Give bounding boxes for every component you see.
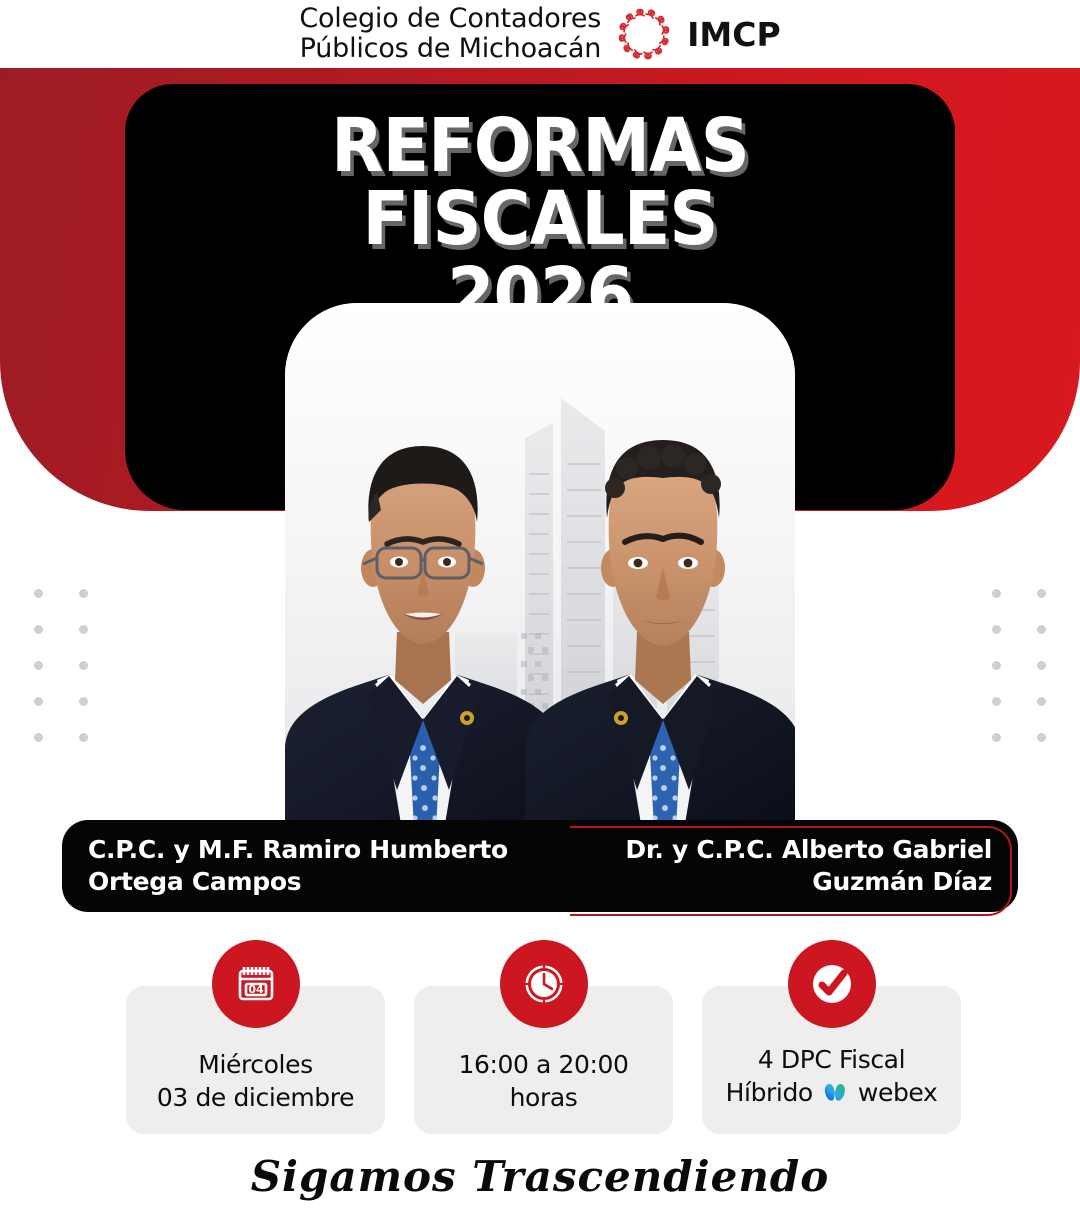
info-card-date-text: Miércoles 03 de diciembre — [157, 1049, 354, 1114]
info-card-date: 04 Miércoles 03 de diciembre — [126, 986, 385, 1134]
decor-dots-left — [34, 589, 94, 779]
imcp-sunburst-icon — [613, 3, 675, 65]
hero-title: REFORMAS FISCALES 2026 — [125, 110, 955, 332]
brand-header: Colegio de Contadores Públicos de Michoa… — [0, 0, 1080, 68]
imcp-acronym: IMCP — [687, 15, 781, 54]
speaker-1-name: C.P.C. y M.F. Ramiro Humberto Ortega Cam… — [88, 834, 528, 898]
info-card-time: 16:00 a 20:00 horas — [414, 986, 673, 1134]
speaker-2-portrait — [503, 418, 795, 848]
decor-dots-right — [992, 589, 1052, 779]
info-card-credit-text-after: webex — [850, 1078, 937, 1107]
clock-icon — [500, 940, 588, 1028]
organization-name: Colegio de Contadores Públicos de Michoa… — [299, 4, 601, 65]
poster-canvas: Colegio de Contadores Públicos de Michoa… — [0, 0, 1080, 1223]
info-cards: 04 Miércoles 03 de diciembre — [126, 986, 961, 1134]
calendar-day-number: 04 — [248, 983, 264, 996]
speakers-photo — [285, 303, 795, 848]
webex-logo — [822, 1080, 848, 1115]
speaker-2-name: Dr. y C.P.C. Alberto Gabriel Guzmán Díaz — [552, 834, 992, 898]
info-card-credit: 4 DPC Fiscal Híbrido webex — [702, 986, 961, 1134]
info-card-time-text: 16:00 a 20:00 horas — [458, 1049, 628, 1114]
check-circle-icon — [788, 940, 876, 1028]
calendar-icon: 04 — [212, 940, 300, 1028]
footer-tagline: Sigamos Trascendiendo — [0, 1152, 1080, 1201]
info-card-credit-text: 4 DPC Fiscal Híbrido webex — [726, 1044, 938, 1114]
hero-title-line1: REFORMAS FISCALES — [158, 110, 922, 255]
